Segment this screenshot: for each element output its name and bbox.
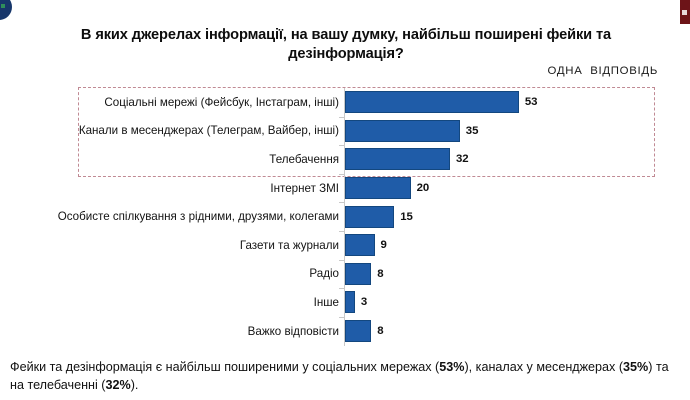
summary-value-1: 53% [439,360,464,374]
axis-tick [339,202,344,203]
axis-tick [339,231,344,232]
bar-row: Інтернет ЗМІ20 [0,174,690,203]
bar-category-label: Газети та журнали [39,239,339,252]
axis-tick [339,288,344,289]
bar-value-label: 9 [381,239,387,251]
bar-container: 53 [345,88,538,117]
summary-part-1: Фейки та дезінформація є найбільш пошире… [10,360,439,374]
bar [345,291,355,313]
bar-value-label: 53 [525,96,538,108]
bar-row: Соціальні мережі (Фейсбук, Інстаграм, ін… [0,88,690,117]
axis-tick [339,260,344,261]
axis-tick [339,317,344,318]
bar-category-label: Соціальні мережі (Фейсбук, Інстаграм, ін… [39,96,339,109]
bar-value-label: 20 [417,182,430,194]
bar-row: Телебачення32 [0,145,690,174]
bar-category-label: Канали в месенджерах (Телеграм, Вайбер, … [39,124,339,137]
bar-category-label: Інше [39,296,339,309]
bar-container: 32 [345,145,469,174]
bar-container: 8 [345,260,384,289]
bar [345,120,460,142]
axis-tick [339,117,344,118]
bar [345,177,411,199]
bar-category-label: Радіо [39,267,339,280]
bar-value-label: 35 [466,125,479,137]
axis-tick [339,174,344,175]
bar-container: 8 [345,317,384,346]
bar-value-label: 3 [361,296,367,308]
bar [345,320,371,342]
summary-part-2: ), каналах у месенджерах ( [464,360,623,374]
bar-container: 15 [345,202,413,231]
summary-value-2: 35% [623,360,648,374]
bar-value-label: 8 [377,325,383,337]
bar [345,148,450,170]
bar-value-label: 15 [400,211,413,223]
bar [345,234,375,256]
bar-category-label: Важко відповісти [39,325,339,338]
summary-value-3: 32% [106,378,131,392]
bar-rows: Соціальні мережі (Фейсбук, Інстаграм, ін… [0,88,690,345]
bar [345,206,394,228]
bar-container: 9 [345,231,387,260]
bar-container: 35 [345,117,478,146]
bar-category-label: Особисте спілкування з рідними, друзями,… [39,210,339,223]
bar-row: Важко відповісти8 [0,317,690,346]
bar-container: 3 [345,288,367,317]
axis-tick [339,145,344,146]
brand-logo-left [0,0,12,20]
bar-category-label: Телебачення [39,153,339,166]
logo-notch [682,10,687,15]
summary-text: Фейки та дезінформація є найбільш пошире… [10,358,682,395]
brand-logo-right [679,0,690,24]
chart-title: В яких джерелах інформації, на вашу думк… [58,26,634,65]
bar-row: Особисте спілкування з рідними, друзями,… [0,202,690,231]
bar-row: Інше3 [0,288,690,317]
bar-row: Радіо8 [0,260,690,289]
bar-value-label: 32 [456,153,469,165]
bar-container: 20 [345,174,429,203]
bar-chart: Соціальні мережі (Фейсбук, Інстаграм, ін… [0,88,690,346]
bar [345,91,519,113]
bar-value-label: 8 [377,268,383,280]
bar-category-label: Інтернет ЗМІ [39,182,339,195]
bar-row: Канали в месенджерах (Телеграм, Вайбер, … [0,117,690,146]
bar [345,263,371,285]
logo-accent [1,4,5,8]
bar-row: Газети та журнали9 [0,231,690,260]
single-answer-note: ОДНА ВІДПОВІДЬ [548,65,658,77]
summary-part-4: ). [131,378,139,392]
